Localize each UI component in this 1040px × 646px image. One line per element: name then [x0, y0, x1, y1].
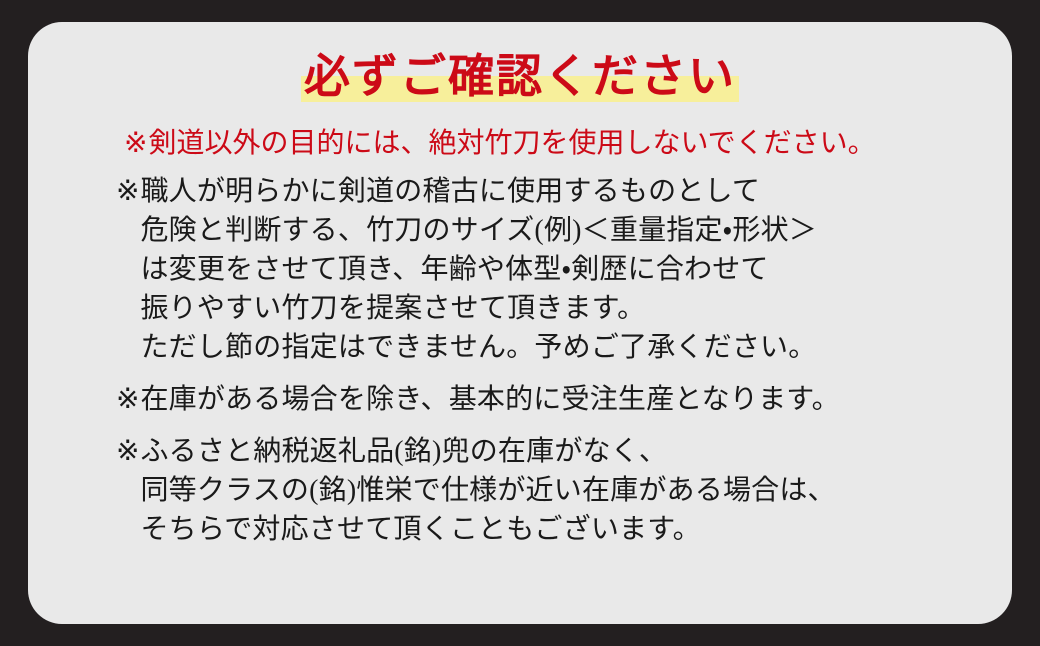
kome-marker-icon: ※ — [116, 172, 139, 211]
notice-list: ※ 剣道以外の目的には、絶対竹刀を使用しないでください。 ※ 職人が明らかに剣道… — [28, 118, 1012, 549]
title-section: 必ずご確認ください — [28, 22, 1012, 118]
notice-item-stock: ※ 在庫がある場合を除き、基本的に受注生産となります。 — [28, 380, 1012, 419]
notice-line: ただし節の指定はできません。予めご了承ください。 — [140, 328, 1012, 367]
notice-line: 危険と判断する、竹刀のサイズ(例)＜重量指定・形状＞ — [140, 211, 1012, 250]
notice-line: 在庫がある場合を除き、基本的に受注生産となります。 — [140, 380, 1012, 419]
notice-card: 必ずご確認ください ※ 剣道以外の目的には、絶対竹刀を使用しないでください。 ※… — [28, 22, 1012, 624]
notice-line: 剣道以外の目的には、絶対竹刀を使用しないでください。 — [148, 124, 1012, 163]
notice-line: 職人が明らかに剣道の稽古に使用するものとして — [140, 172, 1012, 211]
notice-item-furusato: ※ ふるさと納税返礼品(銘)兜の在庫がなく、 同等クラスの(銘)惟栄で仕様が近い… — [28, 432, 1012, 549]
kome-marker-icon: ※ — [124, 124, 147, 163]
notice-item-craftsman: ※ 職人が明らかに剣道の稽古に使用するものとして 危険と判断する、竹刀のサイズ(… — [28, 172, 1012, 367]
notice-line: 振りやすい竹刀を提案させて頂きます。 — [140, 289, 1012, 328]
notice-line: 同等クラスの(銘)惟栄で仕様が近い在庫がある場合は、 — [140, 471, 1012, 510]
notice-item-text: ふるさと納税返礼品(銘)兜の在庫がなく、 同等クラスの(銘)惟栄で仕様が近い在庫… — [140, 432, 1012, 549]
notice-line: ふるさと納税返礼品(銘)兜の在庫がなく、 — [140, 432, 1012, 471]
spacer — [28, 423, 1012, 432]
notice-item-text: 在庫がある場合を除き、基本的に受注生産となります。 — [140, 380, 1012, 419]
notice-line: は変更をさせて頂き、年齢や体型・剣歴に合わせて — [140, 250, 1012, 289]
kome-marker-icon: ※ — [116, 380, 139, 419]
notice-item-text: 職人が明らかに剣道の稽古に使用するものとして 危険と判断する、竹刀のサイズ(例)… — [140, 172, 1012, 367]
spacer — [28, 371, 1012, 380]
kome-marker-icon: ※ — [116, 432, 139, 471]
notice-line: そちらで対応させて頂くこともございます。 — [140, 510, 1012, 549]
notice-item-warning: ※ 剣道以外の目的には、絶対竹刀を使用しないでください。 — [28, 124, 1012, 163]
page-title: 必ずご確認ください — [304, 54, 736, 100]
notice-item-text: 剣道以外の目的には、絶対竹刀を使用しないでください。 — [148, 124, 1012, 163]
